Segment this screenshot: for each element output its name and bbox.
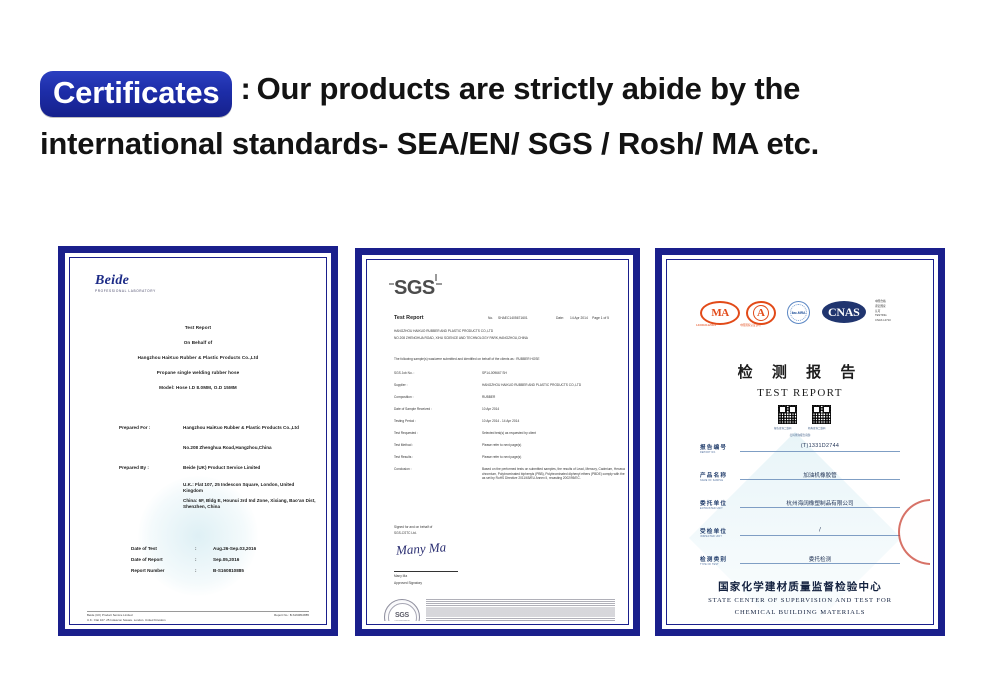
ma-logo-caption: 14000211Z001 (696, 323, 716, 327)
certificate-page: MA 14000211Z001 A 中国国家认证认可 ilac-MRA CNAS… (670, 263, 930, 621)
sgs-logo-text: SGS (394, 277, 435, 299)
sgs-handwritten-signature: Many Ma (396, 539, 447, 558)
c1-field-value-4: China: 6F, Bldg E, Hounui 3rd Ind Zone, … (183, 498, 323, 511)
sgs-row-value-7: Please refer to next page(s) (482, 455, 625, 460)
sgs-seal-ring (388, 603, 417, 622)
sgs-intro-text: The following sample(s) was/were submitt… (394, 357, 625, 362)
sgs-report-date-value: 14 Apr 2014 (570, 316, 588, 320)
cnas-side-line-1: 评定国家 (875, 304, 886, 308)
sgs-client-line-1: NO.208 ZHENGHUA ROAD, XIHU SCIENCE AND T… (394, 336, 528, 341)
sgs-accreditation-seal: SGS ACCREDITED (384, 599, 420, 621)
a-logo-icon: A (746, 301, 776, 325)
sgs-logo: SGS (394, 277, 435, 300)
c1-title-line-1: Test Report (73, 325, 323, 330)
field-label-cn-1: 产品名称 (700, 471, 727, 479)
c1-date-sep-0: : (195, 546, 197, 551)
sgs-signature-prefix-2: SGS-CSTC Ltd. (394, 531, 417, 536)
ma-logo-icon: MA (700, 301, 740, 325)
field-label-cn-4: 检测类别 (700, 555, 727, 563)
sgs-row-label-3: Date of Sample Received : (394, 407, 432, 411)
c1-footer-rule (87, 611, 309, 612)
c1-date-label-0: Date of Test (131, 546, 157, 551)
sgs-row-value-6: Please refer to next page(s) (482, 443, 625, 448)
sgs-report-no-value: SHAEC1405671601 (498, 316, 528, 320)
c1-footer-report-no: Report No.: B-S160810885 (274, 613, 309, 617)
beide-logo: Beide (95, 273, 129, 289)
sgs-report-page: Page 1 of 5 (592, 316, 609, 320)
sgs-logo-mark-tick (435, 274, 437, 281)
qr-code-report[interactable] (778, 405, 797, 424)
certificate-frame-outer: MA 14000211Z001 A 中国国家认证认可 ilac-MRA CNAS… (655, 248, 945, 636)
c1-field-value-3: U.K.: Flat 107, 25 Indescon Square, Lond… (183, 482, 313, 495)
qr-subcaption: 扫码查询报告真伪 (670, 433, 930, 437)
sgs-signatory-name: Many Ma (394, 574, 407, 579)
field-label-cn-0: 报告编号 (700, 443, 727, 451)
sgs-row-label-4: Testing Period : (394, 419, 416, 423)
c1-date-sep-2: : (195, 568, 197, 573)
sgs-client-line-0: HANGZHOU HAIKUO RUBBER AND PLASTIC PRODU… (394, 329, 493, 334)
field-rule-4 (740, 563, 900, 564)
c1-field-label-0: Prepared For : (119, 425, 150, 430)
field-rule-1 (740, 479, 900, 480)
c1-field-value-2: Beide (UK) Product Service Limited (183, 465, 260, 470)
sgs-row-value-4: 10 Apr 2014 - 14 Apr 2014 (482, 419, 625, 424)
official-red-stamp (898, 499, 930, 565)
c1-field-value-0: Hangzhou HaiKuo Rubber & Plastic Product… (183, 425, 299, 430)
field-rule-3 (740, 535, 900, 536)
headline-line-2: international standards- SEA/EN/ SGS / R… (40, 117, 970, 171)
cnas-side-line-0: 中国合格 (875, 299, 886, 303)
sgs-logo-mark-right (436, 283, 442, 285)
sgs-report-title: Test Report (394, 315, 424, 321)
qr-caption-report: 报告查询二维码 (774, 426, 792, 430)
c1-date-value-2: B-S160810885 (213, 568, 244, 573)
a-logo-text: A (757, 307, 765, 319)
c1-field-value-1: No.208 Zhenghua Road,Hangzhou,China (183, 445, 272, 450)
field-value-1: 加油机橡胶管 (740, 471, 900, 479)
headline-line-1-text: Our products are strictly abide by the (257, 71, 801, 106)
field-label-en-3: INSPECTED UNIT (700, 536, 722, 538)
institution-name-en-2: CHEMICAL BUILDING MATERIALS (670, 609, 930, 616)
field-value-0: (T)1331D2744 (740, 443, 900, 449)
ilac-logo-text: ilac-MRA (792, 311, 806, 315)
c1-title-line-3: Hangzhou HaiKuo Rubber & Plastic Product… (73, 355, 323, 360)
certificate-frame-inner: SGS Test Report No. SHAEC1405671601 Date… (366, 259, 629, 625)
sgs-footer-legal-text (426, 599, 615, 621)
sgs-row-label-7: Test Results : (394, 455, 413, 459)
c1-date-value-1: Sep.05,2016 (213, 557, 239, 562)
c1-title-line-5: Model: Hose I.D 8.0MM, O.D 15MM (73, 385, 323, 390)
certificate-frame-outer: Beide PROFESSIONAL LABORATORY Test Repor… (58, 246, 338, 636)
sgs-row-label-1: Supplier : (394, 383, 407, 387)
sgs-logo-mark-left (389, 283, 394, 285)
field-rule-2 (740, 507, 900, 508)
headline-line-1: Certificates:Our products are strictly a… (40, 62, 970, 117)
beide-logo-subtitle: PROFESSIONAL LABORATORY (95, 289, 156, 293)
sgs-row-value-2: RUBBER (482, 395, 625, 400)
field-label-en-4: TYPE OF TEST (700, 564, 719, 566)
field-label-cn-2: 委托单位 (700, 499, 727, 507)
field-value-3: / (740, 527, 900, 533)
sgs-row-label-0: SGS Job No. : (394, 371, 414, 375)
field-value-4: 委托检测 (740, 555, 900, 563)
ilac-mra-logo-icon: ilac-MRA (787, 301, 810, 324)
certificate-frame-inner: Beide PROFESSIONAL LABORATORY Test Repor… (69, 257, 327, 625)
report-title-cn: 检 测 报 告 (670, 361, 930, 382)
qr-code-institution[interactable] (812, 405, 831, 424)
sgs-row-value-0: SP14-009667 SH (482, 371, 625, 376)
certificate-page: Beide PROFESSIONAL LABORATORY Test Repor… (73, 261, 323, 621)
sgs-row-value-3: 10 Apr 2014 (482, 407, 625, 412)
certificate-beide[interactable]: Beide PROFESSIONAL LABORATORY Test Repor… (58, 246, 338, 636)
a-logo-caption: 中国国家认证认可 (740, 323, 761, 327)
sgs-report-no-label: No. (488, 316, 493, 320)
sgs-signatory-role: Approved Signatory (394, 581, 422, 586)
c1-field-label-2: Prepared By : (119, 465, 149, 470)
cnas-logo-text: CNAS (828, 305, 859, 320)
sgs-row-label-8: Conclusion : (394, 467, 412, 471)
certificate-frame-inner: MA 14000211Z001 A 中国国家认证认可 ilac-MRA CNAS… (666, 259, 934, 625)
sgs-signature-rule (394, 571, 458, 572)
field-label-en-1: NAME OF SAMPLE (700, 480, 723, 482)
certificates-badge: Certificates (40, 71, 232, 117)
certificate-page: SGS Test Report No. SHAEC1405671601 Date… (370, 263, 625, 621)
sgs-row-value-8: Based on the performed tests on submitte… (482, 467, 625, 481)
c1-title-line-2: On Behalf of (73, 340, 323, 345)
c1-footer-line-0: Beide (UK) Product Service Limited (87, 613, 132, 617)
c1-title-line-4: Propane single welding rubber hose (73, 370, 323, 375)
field-label-en-2: ENTRUSTED UNIT (700, 508, 723, 510)
sgs-report-date-label: Date: (556, 316, 564, 320)
headline-colon: : (232, 71, 256, 106)
c1-date-label-2: Report Number (131, 568, 164, 573)
report-title-en: TEST REPORT (670, 387, 930, 399)
sgs-row-label-6: Test Method : (394, 443, 413, 447)
cnas-side-line-3: TESTING (875, 314, 887, 317)
cnas-side-line-2: 认可 (875, 309, 880, 313)
headline-block: Certificates:Our products are strictly a… (40, 62, 970, 171)
field-label-en-0: REPORT NO. (700, 452, 716, 454)
sgs-row-value-1: HANGZHOU HAIKUO RUBBER AND PLASTIC PRODU… (482, 383, 625, 388)
certificate-frame-outer: SGS Test Report No. SHAEC1405671601 Date… (355, 248, 640, 636)
c1-date-value-0: Aug.26-Sep.03,2016 (213, 546, 256, 551)
c1-footer-line-1: U.K.: Flat 107, 25 Indescon Square, Lond… (87, 618, 166, 621)
sgs-row-label-2: Composition : (394, 395, 414, 399)
cnas-side-line-4: CNAS L0710 (875, 319, 891, 322)
sgs-signature-prefix-1: Signed for and on behalf of (394, 525, 432, 530)
field-label-cn-3: 受检单位 (700, 527, 727, 535)
field-value-2: 杭州海阔橡塑制品有限公司 (740, 499, 900, 507)
institution-name-en-1: STATE CENTER OF SUPERVISION AND TEST FOR (670, 597, 930, 604)
c1-date-sep-1: : (195, 557, 197, 562)
certificate-sgs[interactable]: SGS Test Report No. SHAEC1405671601 Date… (355, 248, 640, 636)
c1-date-label-1: Date of Report (131, 557, 163, 562)
sgs-row-value-5: Selected test(s) as requested by client (482, 431, 625, 436)
field-rule-0 (740, 451, 900, 452)
sgs-row-label-5: Test Requested : (394, 431, 418, 435)
institution-name-cn: 国家化学建材质量监督检验中心 (670, 579, 930, 594)
certificate-china-ma[interactable]: MA 14000211Z001 A 中国国家认证认可 ilac-MRA CNAS… (655, 248, 945, 636)
qr-caption-institution: 机构查询二维码 (808, 426, 826, 430)
